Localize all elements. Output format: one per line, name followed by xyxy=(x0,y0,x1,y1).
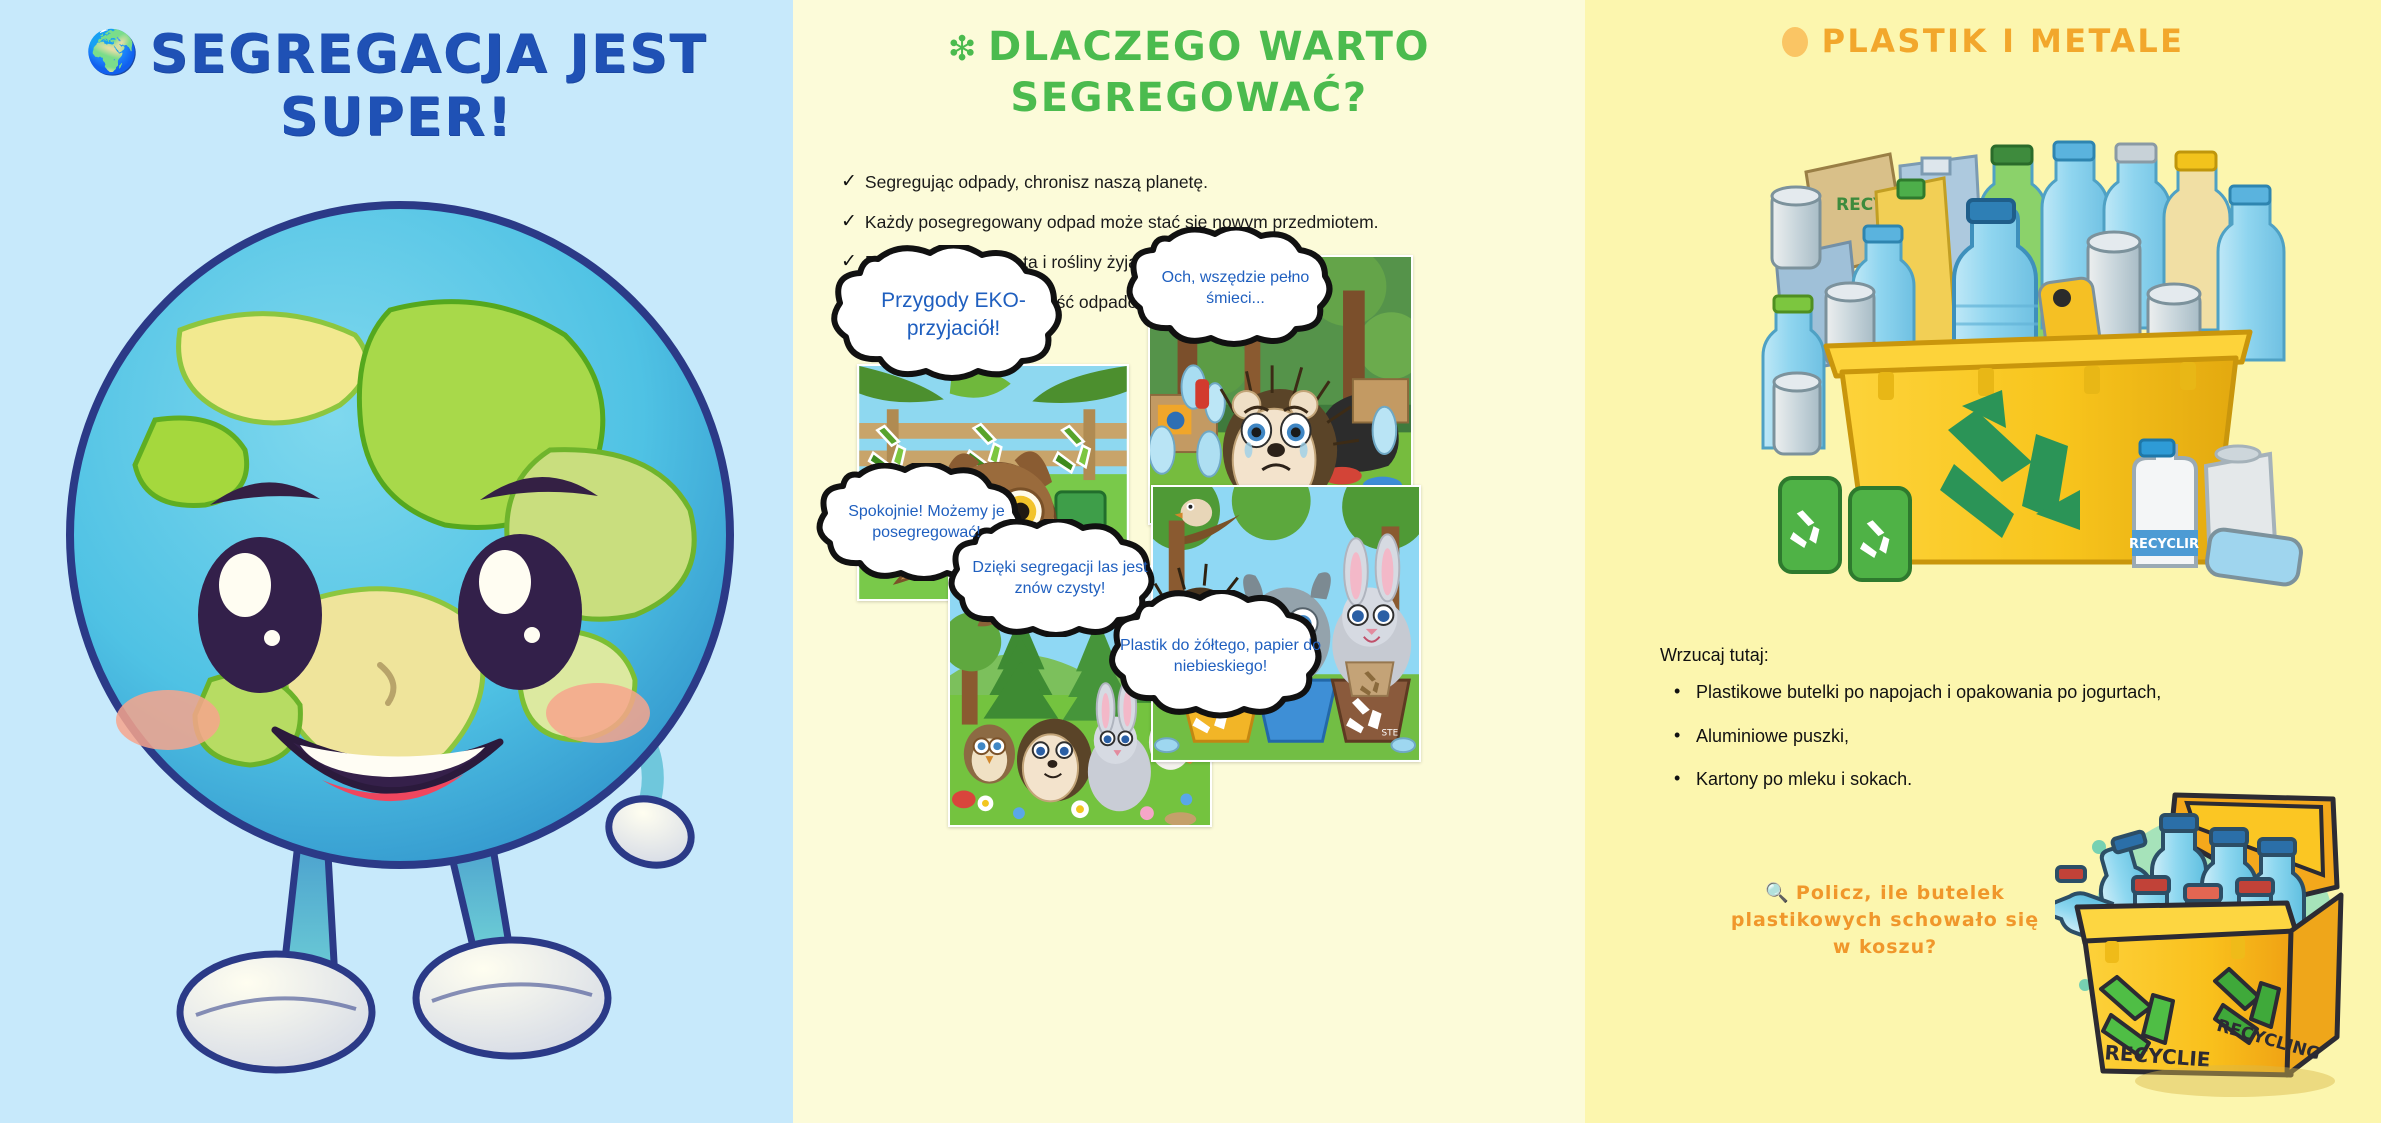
speech-bubble-text: Przygody EKO-przyjaciół! xyxy=(842,287,1065,342)
list-item: ✓ Segregując odpady, chronisz naszą plan… xyxy=(841,172,1541,194)
list-item-text: Segregując odpady, chronisz naszą planet… xyxy=(865,172,1208,194)
speech-bubble-text: Spokojnie! Możemy je posegregować! xyxy=(829,501,1024,543)
middle-panel: ❇DLACZEGO WARTO SEGREGOWAĆ? ✓ Segregując… xyxy=(793,0,1585,1123)
plastic-metal-heading-text: PLASTIK I METALE xyxy=(1822,22,2185,60)
speech-bubble-text: Plastik do żółtego, papier do niebieskie… xyxy=(1120,635,1321,677)
why-sort-heading-line-2: SEGREGOWAĆ? xyxy=(1010,75,1367,121)
speech-bubble-text: Och, wszędzie pełno śmieci... xyxy=(1139,267,1332,309)
magnifier-icon: 🔍 xyxy=(1765,882,1790,904)
orange-circle-icon xyxy=(1782,27,1808,57)
speech-bubble-och: Och, wszędzie pełno śmieci... xyxy=(1113,227,1358,349)
count-bottles-note: 🔍Policz, ile butelek plastikowych schowa… xyxy=(1720,880,2050,961)
speech-bubble-przygody: Przygody EKO-przyjaciół! xyxy=(816,245,1091,385)
list-item: Aluminiowe puszki, xyxy=(1696,726,2260,748)
recycling-crate-illustration: RECYCLIE RECYCLING xyxy=(2055,775,2381,1105)
comic-strip: GRAW xyxy=(793,330,1585,1123)
title-line-2: SUPER! xyxy=(280,87,513,148)
speech-bubble-plastik: Plastik do żółtego, papier do niebieskie… xyxy=(1094,590,1347,722)
right-panel: PLASTIK I METALE RECY xyxy=(1585,0,2381,1123)
globe-icon: 🌍 xyxy=(85,27,139,76)
recycling-bin-hero-illustration: RECY xyxy=(1750,110,2310,590)
why-sort-heading-line-1: DLACZEGO WARTO xyxy=(988,24,1430,70)
title-line-1: SEGREGACJA JEST xyxy=(150,24,708,85)
check-icon: ✓ xyxy=(841,212,857,233)
what-to-throw-lead: Wrzucaj tutaj: xyxy=(1660,645,2260,666)
svg-text:RECYCLIR: RECYCLIR xyxy=(2129,537,2199,552)
clover-icon: ❇ xyxy=(948,29,978,69)
earth-mascot-illustration xyxy=(60,160,740,1100)
list-item: Plastikowe butelki po napojach i opakowa… xyxy=(1696,682,2260,704)
check-icon: ✓ xyxy=(841,172,857,193)
left-panel: 🌍SEGREGACJA JEST SUPER! xyxy=(0,0,793,1123)
poster-page: 🌍SEGREGACJA JEST SUPER! xyxy=(0,0,2381,1123)
why-sort-heading: ❇DLACZEGO WARTO SEGREGOWAĆ? xyxy=(793,22,1585,124)
plastic-metal-heading: PLASTIK I METALE xyxy=(1585,22,2381,60)
speech-bubble-text: Dzięki segregacji las jest znów czysty! xyxy=(961,557,1159,599)
page-title: 🌍SEGREGACJA JEST SUPER! xyxy=(0,24,793,149)
svg-text:STE: STE xyxy=(1382,728,1399,738)
